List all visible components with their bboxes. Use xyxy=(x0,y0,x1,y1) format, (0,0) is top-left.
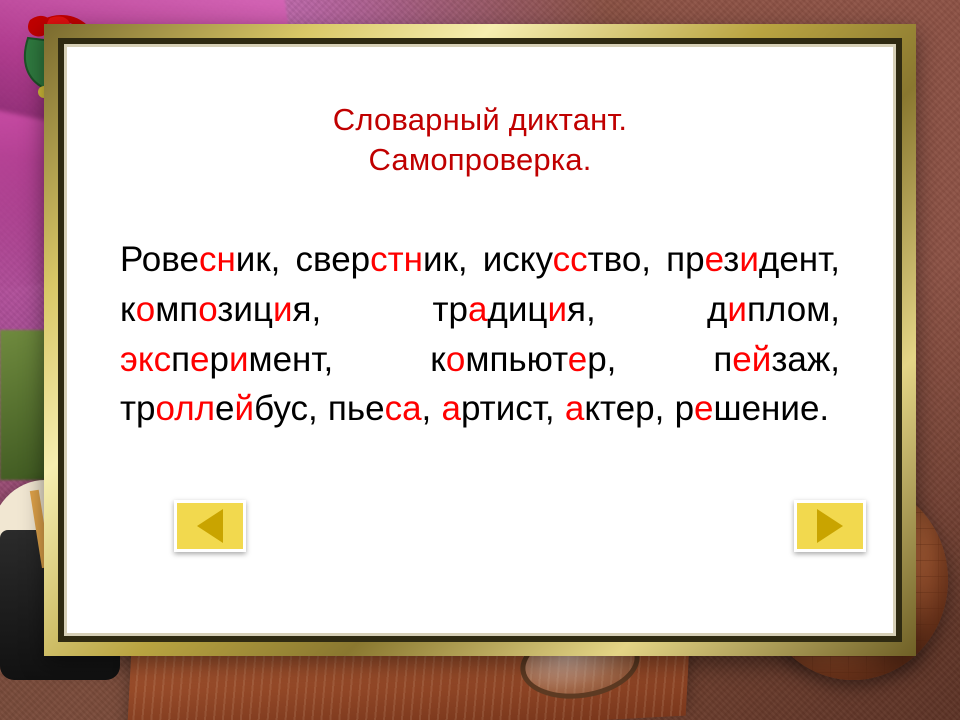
arrow-right-icon xyxy=(817,509,843,543)
vocabulary-word: компьютер, xyxy=(430,340,616,379)
highlighted-letters: е xyxy=(190,340,209,379)
highlighted-letters: а xyxy=(565,389,584,428)
word-segment: мент, xyxy=(249,340,334,379)
highlighted-letters: стн xyxy=(370,240,423,279)
word-segment: ик, xyxy=(423,240,468,279)
vocabulary-word: пьеса, xyxy=(328,389,431,428)
highlighted-letters: е xyxy=(694,389,713,428)
vocabulary-word: искусство, xyxy=(483,240,651,279)
word-segment: пр xyxy=(666,240,704,279)
word-segment: диц xyxy=(487,290,547,329)
word-segment: мпьют xyxy=(465,340,567,379)
highlighted-letters: олл xyxy=(156,389,216,428)
word-segment: иску xyxy=(483,240,553,279)
highlighted-letters: о xyxy=(136,290,155,329)
word-segment: п xyxy=(713,340,732,379)
vocabulary-word: актер, xyxy=(565,389,664,428)
slide-title: Словарный диктант. Самопроверка. xyxy=(112,100,848,179)
word-segment: шение. xyxy=(714,389,830,428)
highlighted-letters: са xyxy=(385,389,422,428)
highlighted-letters: е xyxy=(568,340,587,379)
slide-title-line-1: Словарный диктант. xyxy=(112,100,848,140)
highlighted-letters: и xyxy=(739,240,759,279)
word-segment: р xyxy=(675,389,694,428)
word-segment: тр xyxy=(432,290,468,329)
word-segment: дент, xyxy=(759,240,840,279)
vocabulary-word: пейзаж, xyxy=(713,340,840,379)
word-segment: зиц xyxy=(217,290,273,329)
word-segment: заж, xyxy=(771,340,840,379)
vocabulary-word: сверстник, xyxy=(296,240,468,279)
highlighted-letters: экс xyxy=(120,340,171,379)
highlighted-letters: о xyxy=(446,340,465,379)
vocabulary-word: композиция, xyxy=(120,290,321,329)
highlighted-letters: й xyxy=(235,389,255,428)
vocabulary-word: диплом, xyxy=(707,290,840,329)
slide-canvas: Словарный диктант. Самопроверка. Ровесни… xyxy=(58,38,902,642)
word-segment: пье xyxy=(328,389,385,428)
highlighted-letters: и xyxy=(273,290,293,329)
word-segment: я, xyxy=(293,290,322,329)
gold-picture-frame: Словарный диктант. Самопроверка. Ровесни… xyxy=(44,24,916,656)
next-slide-button[interactable] xyxy=(794,500,866,552)
highlighted-letters: и xyxy=(727,290,747,329)
word-segment: мп xyxy=(155,290,198,329)
highlighted-letters: сн xyxy=(199,240,236,279)
word-segment: р, xyxy=(587,340,616,379)
vocabulary-word-list: Ровесник, сверстник, искусство, президен… xyxy=(112,235,848,434)
vocabulary-word: решение. xyxy=(675,389,830,428)
word-segment: р xyxy=(210,340,229,379)
vocabulary-word: троллейбус, xyxy=(120,389,318,428)
vocabulary-word: Ровесник, xyxy=(120,240,280,279)
highlighted-letters: е xyxy=(705,240,724,279)
vocabulary-word: эксперимент, xyxy=(120,340,333,379)
word-segment: з xyxy=(723,240,739,279)
word-segment: к xyxy=(430,340,446,379)
word-segment: д xyxy=(707,290,727,329)
word-segment: Рове xyxy=(120,240,199,279)
highlighted-letters: ей xyxy=(732,340,771,379)
word-segment: я, xyxy=(567,290,596,329)
highlighted-letters: сс xyxy=(553,240,588,279)
presentation-slide: Словарный диктант. Самопроверка. Ровесни… xyxy=(0,0,960,720)
word-segment: тво, xyxy=(588,240,651,279)
vocabulary-word: президент, xyxy=(666,240,840,279)
word-segment: п xyxy=(171,340,190,379)
word-segment: ик, xyxy=(236,240,281,279)
word-segment: свер xyxy=(296,240,371,279)
highlighted-letters: а xyxy=(442,389,461,428)
arrow-left-icon xyxy=(197,509,223,543)
highlighted-letters: о xyxy=(198,290,217,329)
word-segment: ктер, xyxy=(584,389,664,428)
highlighted-letters: и xyxy=(229,340,249,379)
word-segment: плом, xyxy=(747,290,840,329)
vocabulary-word: традиция, xyxy=(432,290,595,329)
word-segment: , xyxy=(422,389,432,428)
highlighted-letters: а xyxy=(468,290,487,329)
word-segment: тр xyxy=(120,389,156,428)
previous-slide-button[interactable] xyxy=(174,500,246,552)
word-segment: ртист, xyxy=(461,389,555,428)
word-segment: бус, xyxy=(254,389,318,428)
word-segment: к xyxy=(120,290,136,329)
highlighted-letters: и xyxy=(547,290,567,329)
slide-title-line-2: Самопроверка. xyxy=(112,140,848,180)
vocabulary-word: артист, xyxy=(442,389,555,428)
word-segment: е xyxy=(215,389,234,428)
